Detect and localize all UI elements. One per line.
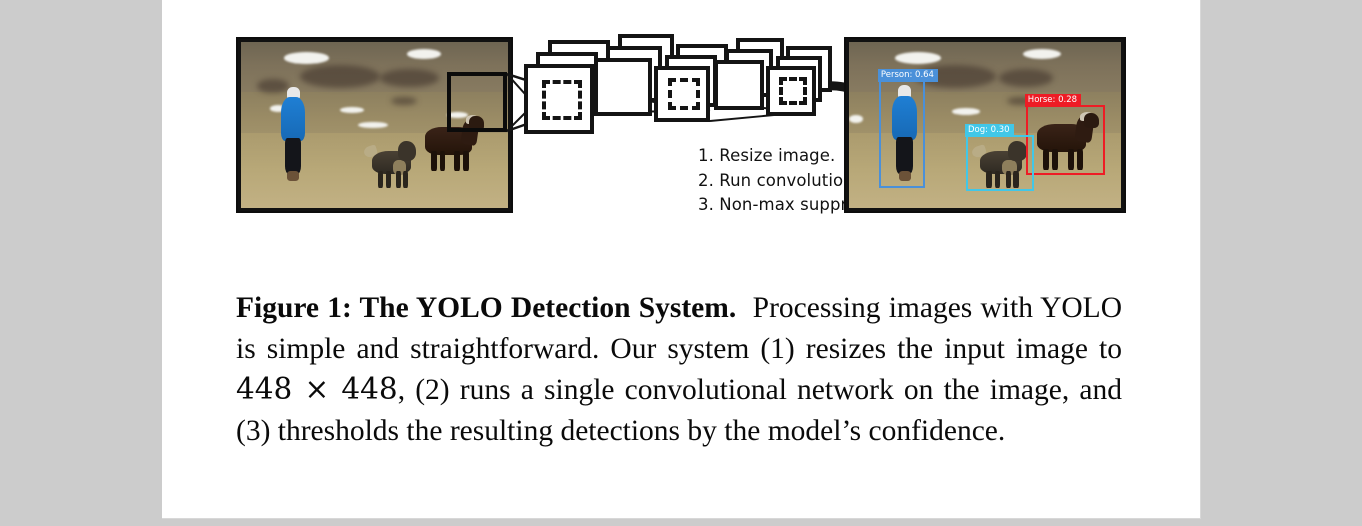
caption-dimensions: 448 × 448	[236, 372, 398, 406]
detection-box-dog[interactable]: Dog: 0.30	[966, 135, 1034, 191]
detection-label-horse: Horse: 0.28	[1025, 94, 1081, 107]
detection-box-horse[interactable]: Horse: 0.28	[1026, 105, 1105, 175]
crop-selection-box	[447, 72, 507, 132]
document-page: 1. Resize image. 2. Run convolutional ne…	[162, 0, 1201, 519]
caption-title: Figure 1: The YOLO Detection System.	[236, 292, 736, 324]
output-scene: Person: 0.64 Horse: 0.28 Dog: 0.30	[849, 42, 1121, 208]
detection-output-image: Person: 0.64 Horse: 0.28 Dog: 0.30	[844, 37, 1126, 213]
figure-caption: Figure 1: The YOLO Detection System. Pro…	[236, 288, 1122, 451]
detection-label-person: Person: 0.64	[878, 69, 938, 82]
detection-box-person[interactable]: Person: 0.64	[879, 80, 925, 188]
person-figure	[278, 87, 307, 182]
detection-label-dog: Dog: 0.30	[965, 124, 1014, 137]
figure-graphic: 1. Resize image. 2. Run convolutional ne…	[162, 0, 1200, 255]
dog-figure	[366, 138, 417, 188]
